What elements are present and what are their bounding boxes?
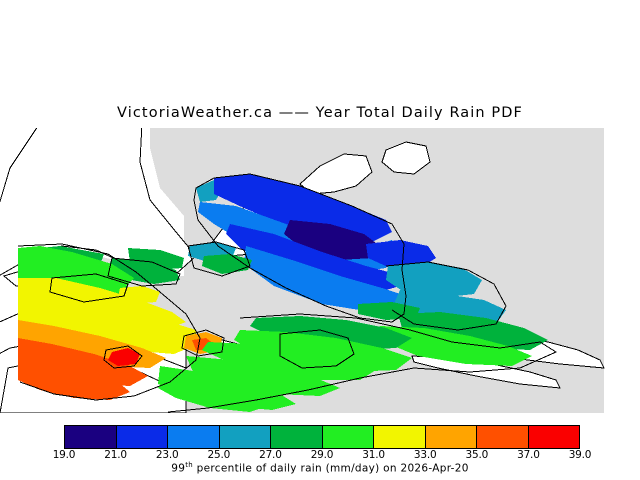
colorbar-tick-7: 33.0 [414,449,437,461]
page-title: VictoriaWeather.ca —— Year Total Daily R… [0,105,640,121]
colorbar-band-5 [323,426,375,448]
colorbar-band-7 [426,426,478,448]
colorbar-tick-0: 19.0 [53,449,76,461]
map-canvas[interactable] [0,128,640,413]
colorbar[interactable] [64,425,580,449]
caption-rest: percentile of daily rain (mm/day) on 202… [193,463,469,475]
colorbar-tick-1: 21.0 [104,449,127,461]
colorbar-caption: 99th percentile of daily rain (mm/day) o… [0,461,640,475]
screenshot-root: VictoriaWeather.ca —— Year Total Daily R… [0,0,640,480]
caption-superscript: th [185,461,193,469]
colorbar-tick-9: 37.0 [517,449,540,461]
colorbar-tick-4: 27.0 [259,449,282,461]
colorbar-tick-10: 39.0 [569,449,592,461]
colorbar-tick-6: 31.0 [362,449,385,461]
colorbar-band-6 [374,426,426,448]
colorbar-band-9 [529,426,580,448]
colorbar-band-3 [220,426,272,448]
colorbar-band-0 [65,426,117,448]
colorbar-band-4 [271,426,323,448]
caption-prefix: 99 [171,463,185,475]
colorbar-band-8 [477,426,529,448]
colorbar-band-2 [168,426,220,448]
colorbar-tick-3: 25.0 [208,449,231,461]
colorbar-tick-2: 23.0 [156,449,179,461]
colorbar-band-1 [117,426,169,448]
colorbar-tick-8: 35.0 [466,449,489,461]
colorbar-tick-5: 29.0 [311,449,334,461]
